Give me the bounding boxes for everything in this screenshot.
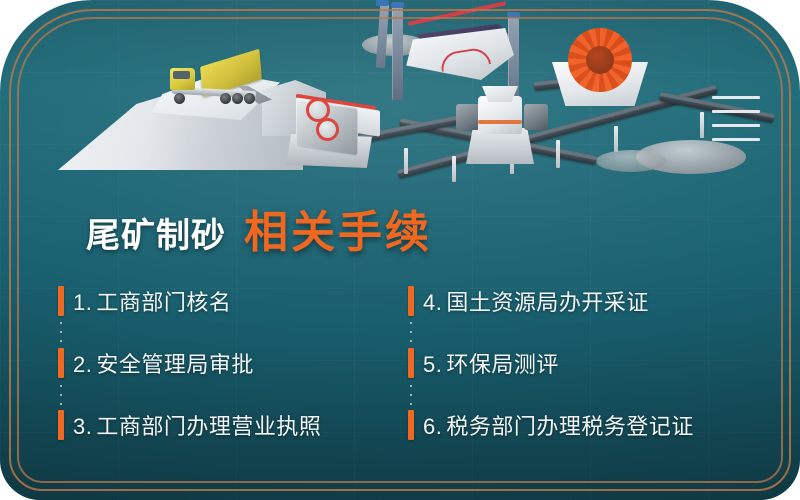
list-item-number: 4.	[423, 290, 442, 315]
list-item-label: 工商部门办理营业执照	[96, 414, 321, 439]
poster-root: 尾矿制砂 相关手续 1.工商部门核名 2.安全管理局审批	[0, 0, 800, 500]
list-item-label: 环保局测评	[446, 352, 559, 377]
list-item-text: 3.工商部门办理营业执照	[73, 409, 321, 441]
list-item-number: 1.	[73, 290, 92, 315]
bullet-bar-icon	[58, 286, 64, 316]
procedures-left-column: 1.工商部门核名 2.安全管理局审批 3.工商部门办理营业执照	[58, 270, 408, 456]
list-item[interactable]: 2.安全管理局审批	[58, 332, 408, 394]
list-item-text: 2.安全管理局审批	[73, 347, 254, 379]
bullet-bar-icon	[408, 286, 414, 316]
list-item[interactable]: 6.税务部门办理税务登记证	[408, 394, 758, 456]
list-item-text: 6.税务部门办理税务登记证	[423, 409, 694, 441]
bullet-bar-icon	[58, 410, 64, 440]
list-item-text: 1.工商部门核名	[73, 285, 231, 317]
list-item-label: 税务部门办理税务登记证	[446, 414, 694, 439]
list-item-label: 安全管理局审批	[96, 352, 254, 377]
bullet-bar-icon	[58, 348, 64, 378]
procedures-list: 1.工商部门核名 2.安全管理局审批 3.工商部门办理营业执照	[58, 270, 758, 456]
teal-panel: 尾矿制砂 相关手续 1.工商部门核名 2.安全管理局审批	[0, 0, 800, 500]
list-item[interactable]: 4.国土资源局办开采证	[408, 270, 758, 332]
page-title: 尾矿制砂 相关手续	[86, 196, 432, 260]
bullet-bar-icon	[408, 410, 414, 440]
bullet-bar-icon	[408, 348, 414, 378]
list-item-number: 3.	[73, 414, 92, 439]
list-item[interactable]: 5.环保局测评	[408, 332, 758, 394]
list-item-number: 6.	[423, 414, 442, 439]
list-item-number: 2.	[73, 352, 92, 377]
title-primary: 尾矿制砂	[86, 208, 226, 257]
list-item-number: 5.	[423, 352, 442, 377]
list-item-text: 4.国土资源局办开采证	[423, 285, 649, 317]
list-item-label: 工商部门核名	[96, 290, 231, 315]
list-item-text: 5.环保局测评	[423, 347, 559, 379]
procedures-right-column: 4.国土资源局办开采证 5.环保局测评 6.税务部门办理税务登记证	[408, 270, 758, 456]
list-item[interactable]: 3.工商部门办理营业执照	[58, 394, 408, 456]
list-item[interactable]: 1.工商部门核名	[58, 270, 408, 332]
list-item-label: 国土资源局办开采证	[446, 290, 649, 315]
title-highlight: 相关手续	[244, 196, 432, 260]
